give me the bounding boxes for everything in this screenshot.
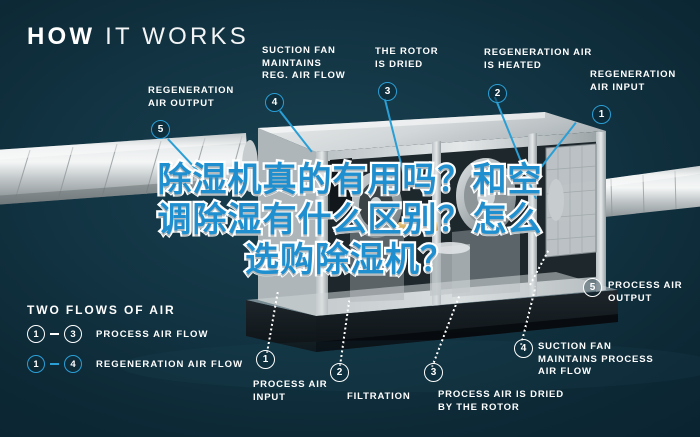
page-title: HOW IT WORKS — [27, 23, 249, 51]
legend-title: TWO FLOWS OF AIR — [27, 303, 176, 317]
label-filtration: FILTRATION — [347, 391, 411, 404]
legend-marker-to-3: 3 — [64, 325, 82, 343]
legend-marker-from-1: 1 — [27, 325, 45, 343]
label-regeneration-air-input: REGENERATION AIR INPUT — [590, 69, 676, 94]
marker-regeneration-air-input[interactable]: 1 — [592, 105, 611, 124]
headline-overlay: 除湿机真的有用吗？和空 调除湿有什么区别？怎么 选购除湿机？ — [0, 160, 700, 280]
title-light: IT WORKS — [105, 23, 249, 50]
label-suction-fan-reg: SUCTION FAN MAINTAINS REG. AIR FLOW — [262, 45, 346, 83]
infographic-canvas: HOW IT WORKS 5 REGENERATION AIR OUTPUT 4… — [0, 0, 700, 437]
marker-process-air-input[interactable]: 1 — [256, 350, 275, 369]
legend-row-process: 1 3 PROCESS AIR FLOW — [27, 325, 209, 343]
legend-marker-to-4: 4 — [64, 355, 82, 373]
headline-line-2: 调除湿有什么区别？怎么 — [0, 200, 700, 240]
marker-suction-fan-process[interactable]: 4 — [514, 339, 533, 358]
marker-process-air-output[interactable]: 5 — [583, 278, 602, 297]
legend-text-regeneration: REGENERATION AIR FLOW — [96, 359, 243, 370]
label-regeneration-air-heated: REGENERATION AIR IS HEATED — [484, 47, 592, 72]
legend-text-process: PROCESS AIR FLOW — [96, 329, 209, 340]
label-regeneration-air-output: REGENERATION AIR OUTPUT — [148, 85, 234, 110]
marker-filtration[interactable]: 2 — [330, 363, 349, 382]
label-suction-fan-process: SUCTION FAN MAINTAINS PROCESS AIR FLOW — [538, 341, 654, 379]
marker-rotor-is-dried[interactable]: 3 — [378, 82, 397, 101]
title-bold: HOW — [27, 23, 95, 50]
marker-suction-fan-reg[interactable]: 4 — [265, 93, 284, 112]
label-process-air-dried: PROCESS AIR IS DRIED BY THE ROTOR — [438, 389, 564, 414]
headline-line-3: 选购除湿机？ — [0, 240, 700, 280]
label-process-air-output: PROCESS AIR OUTPUT — [608, 280, 682, 305]
label-process-air-input: PROCESS AIR INPUT — [253, 379, 327, 404]
legend-dash-process — [50, 333, 59, 335]
legend-row-regeneration: 1 4 REGENERATION AIR FLOW — [27, 355, 243, 373]
legend-marker-from-1-blue: 1 — [27, 355, 45, 373]
marker-regeneration-air-heated[interactable]: 2 — [488, 84, 507, 103]
legend-dash-regeneration — [50, 363, 59, 365]
marker-regeneration-air-output[interactable]: 5 — [151, 120, 170, 139]
marker-process-air-dried[interactable]: 3 — [424, 363, 443, 382]
headline-line-1: 除湿机真的有用吗？和空 — [0, 160, 700, 200]
label-rotor-is-dried: THE ROTOR IS DRIED — [375, 46, 438, 71]
